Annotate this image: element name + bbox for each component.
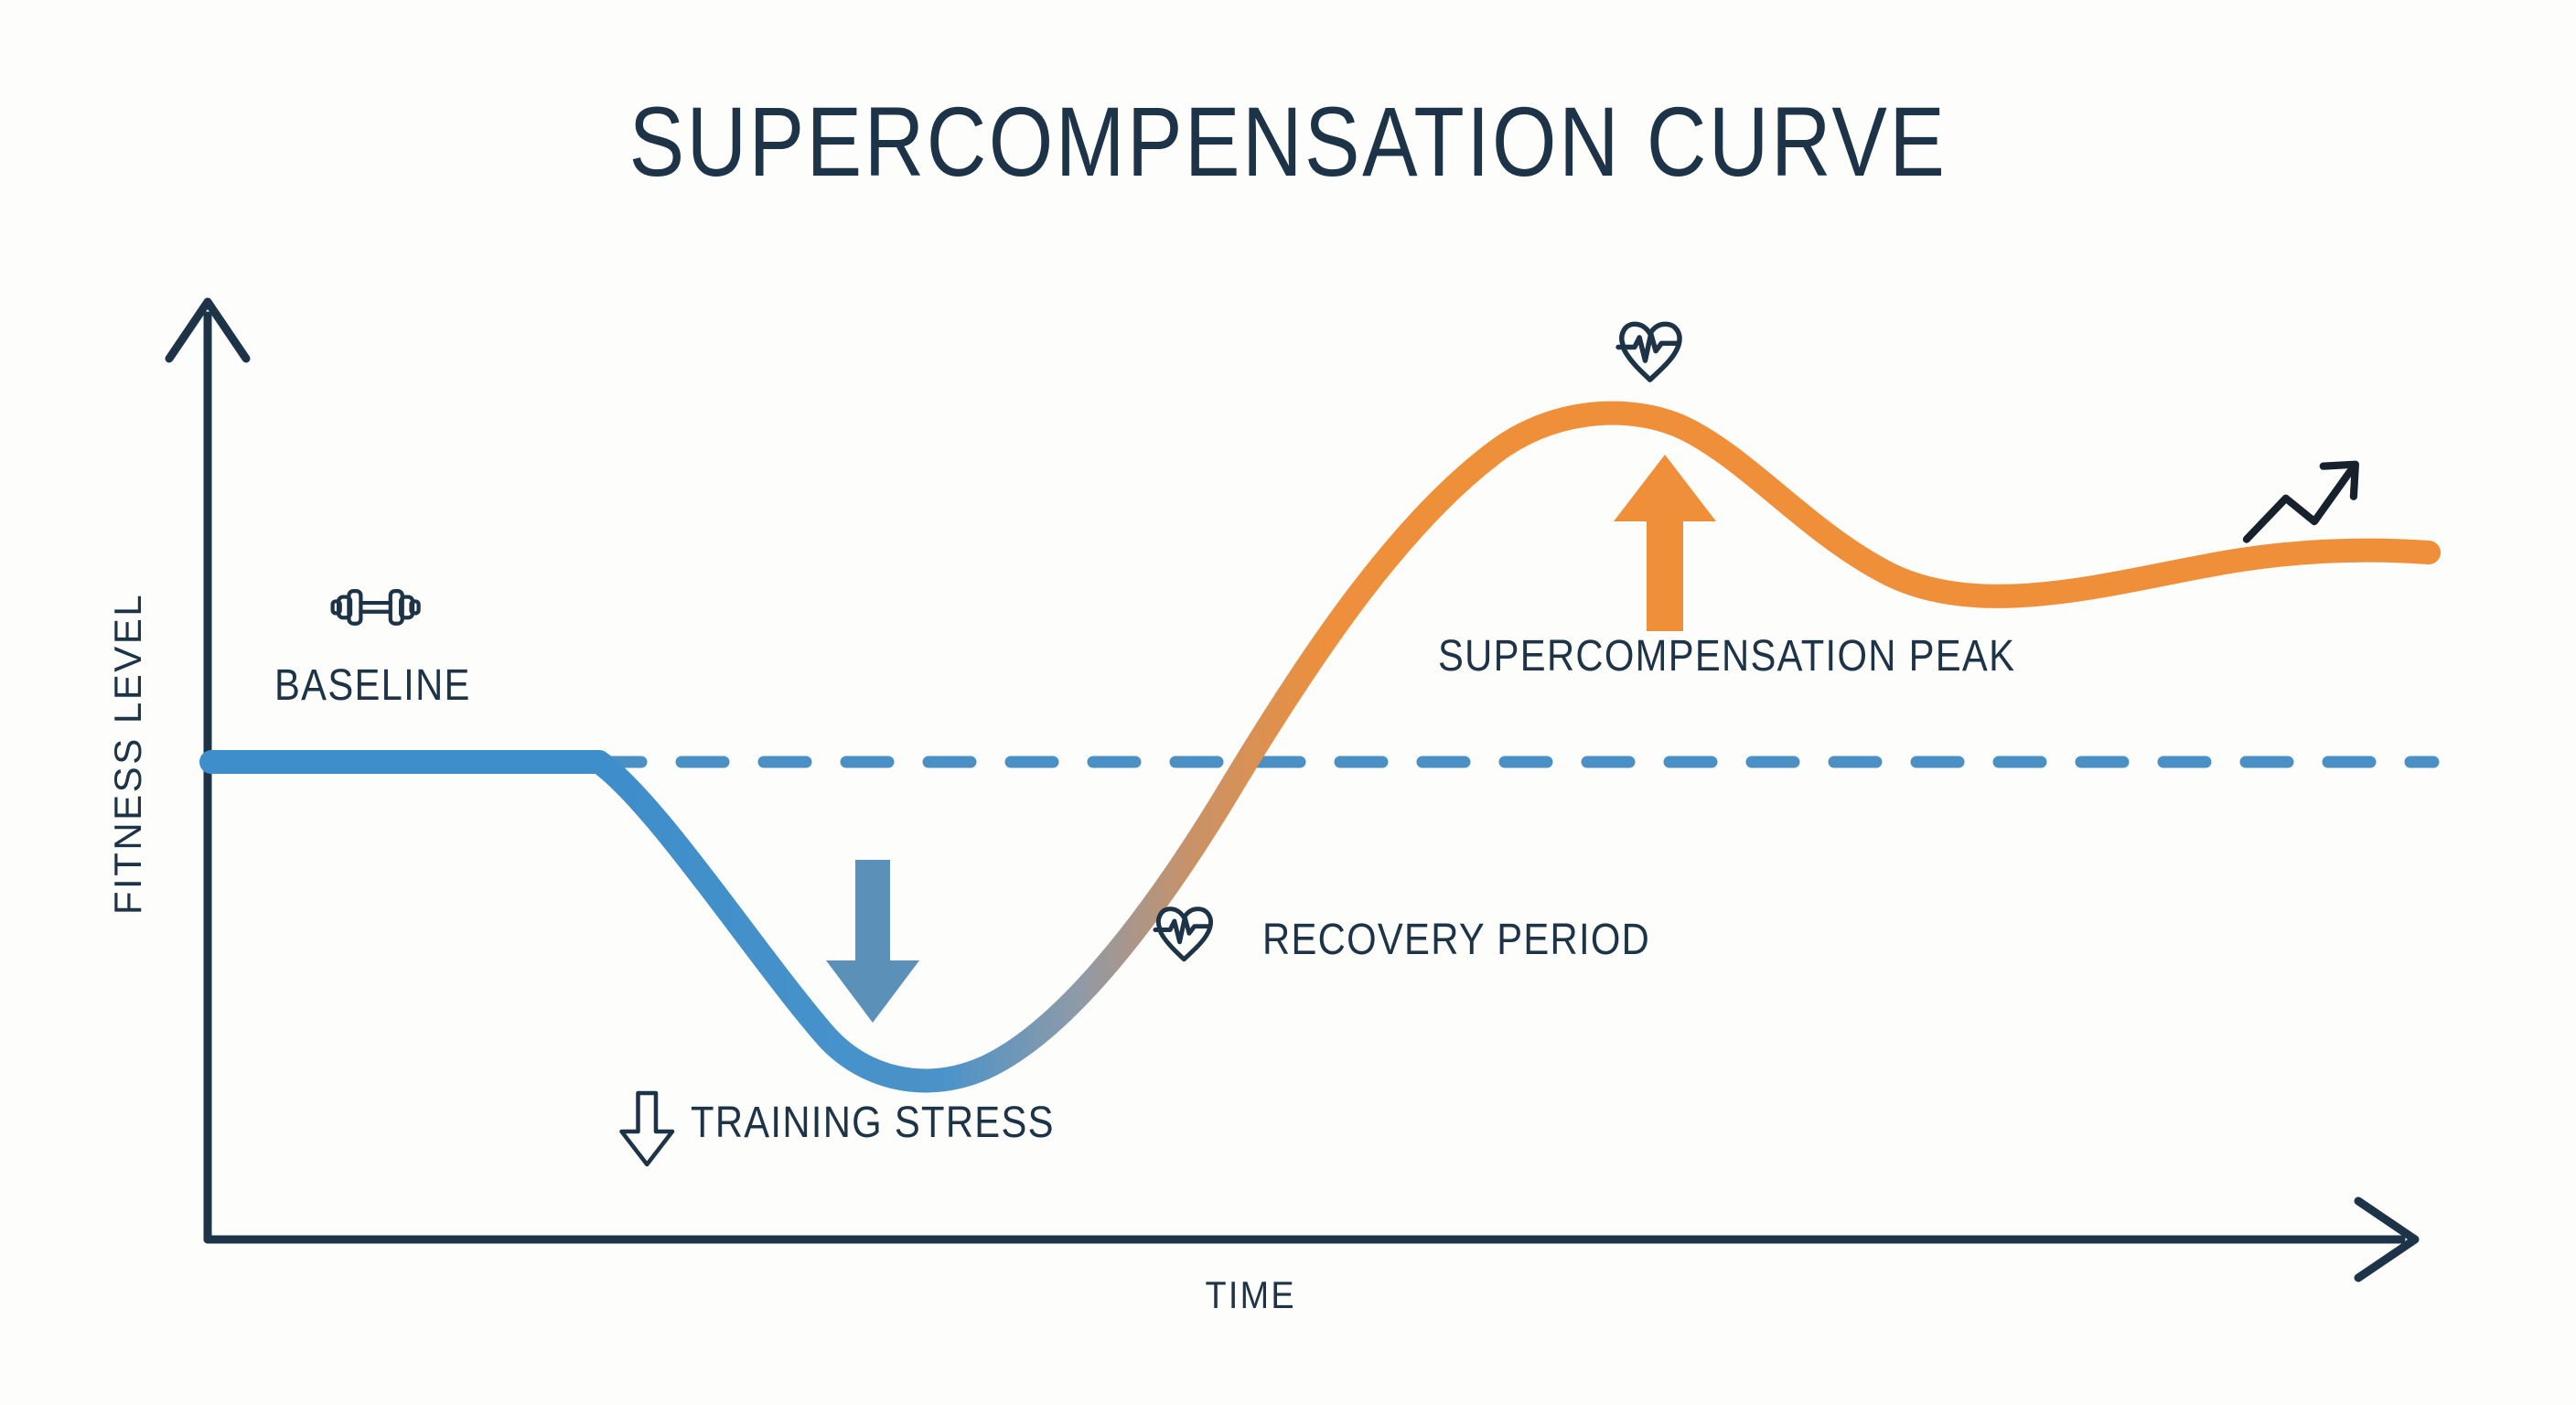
heart-pulse-icon (1155, 909, 1211, 960)
heart-pulse-icon (1618, 324, 1680, 380)
training-stress-callout-arrow (826, 860, 919, 1023)
supercompensation-curve (211, 413, 2429, 1081)
supercompensation-callout-arrow (1614, 455, 1716, 631)
arrow-down-outline-icon (622, 1093, 673, 1164)
trending-up-icon (2247, 465, 2356, 540)
supercompensation-chart (0, 0, 2576, 1405)
dumbbell-icon (333, 591, 419, 624)
chart-canvas: SUPERCOMPENSATION CURVE FITNESS LEVEL TI… (0, 0, 2576, 1405)
x-axis (208, 1201, 2415, 1278)
